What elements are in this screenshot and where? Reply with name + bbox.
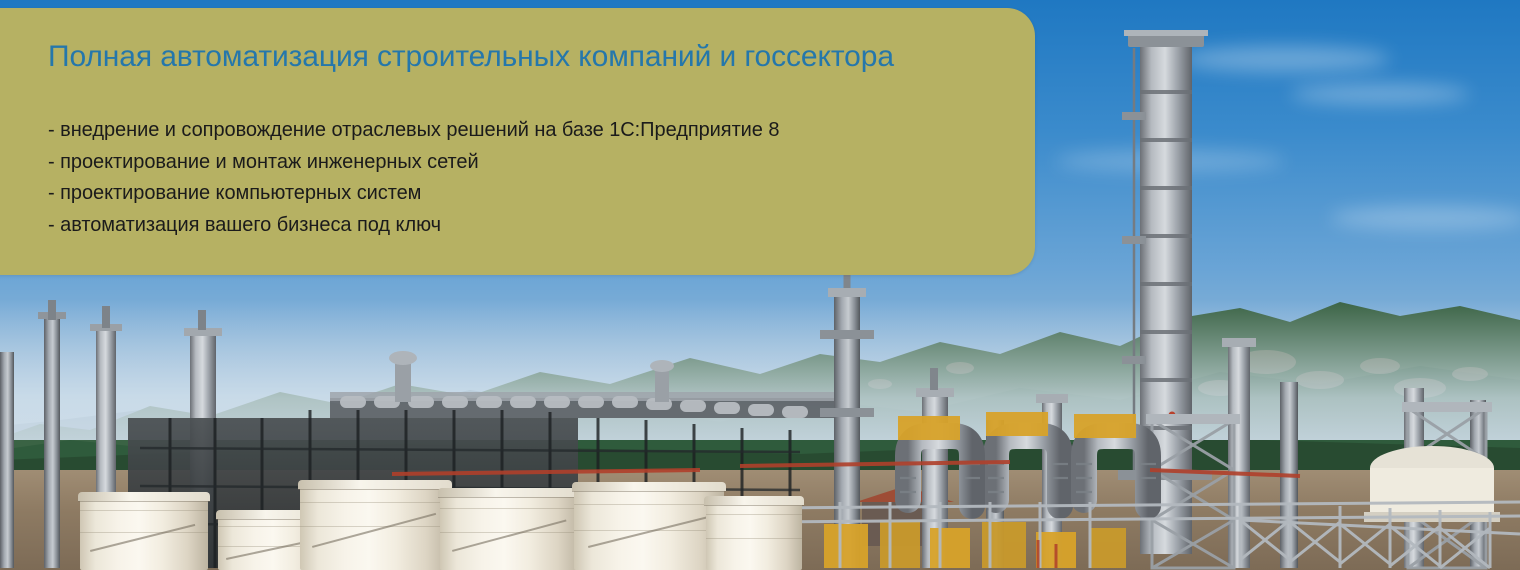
- storage-tank: [706, 496, 802, 570]
- headline-panel: Полная автоматизация строительных компан…: [0, 8, 1035, 275]
- list-item: - внедрение и сопровождение отраслевых р…: [48, 115, 779, 147]
- list-item: - проектирование и монтаж инженерных сет…: [48, 147, 779, 179]
- service-list: - внедрение и сопровождение отраслевых р…: [48, 115, 779, 241]
- storage-tank: [574, 482, 724, 570]
- list-item: - проектирование компьютерных систем: [48, 178, 779, 210]
- banner-slide: Полная автоматизация строительных компан…: [0, 0, 1520, 570]
- list-item: - автоматизация вашего бизнеса под ключ: [48, 210, 779, 242]
- storage-tank: [440, 488, 580, 570]
- storage-tank: [300, 480, 450, 570]
- storage-tank: [80, 492, 208, 570]
- tall-smokestack: [1118, 30, 1212, 554]
- page-title: Полная автоматизация строительных компан…: [48, 40, 894, 74]
